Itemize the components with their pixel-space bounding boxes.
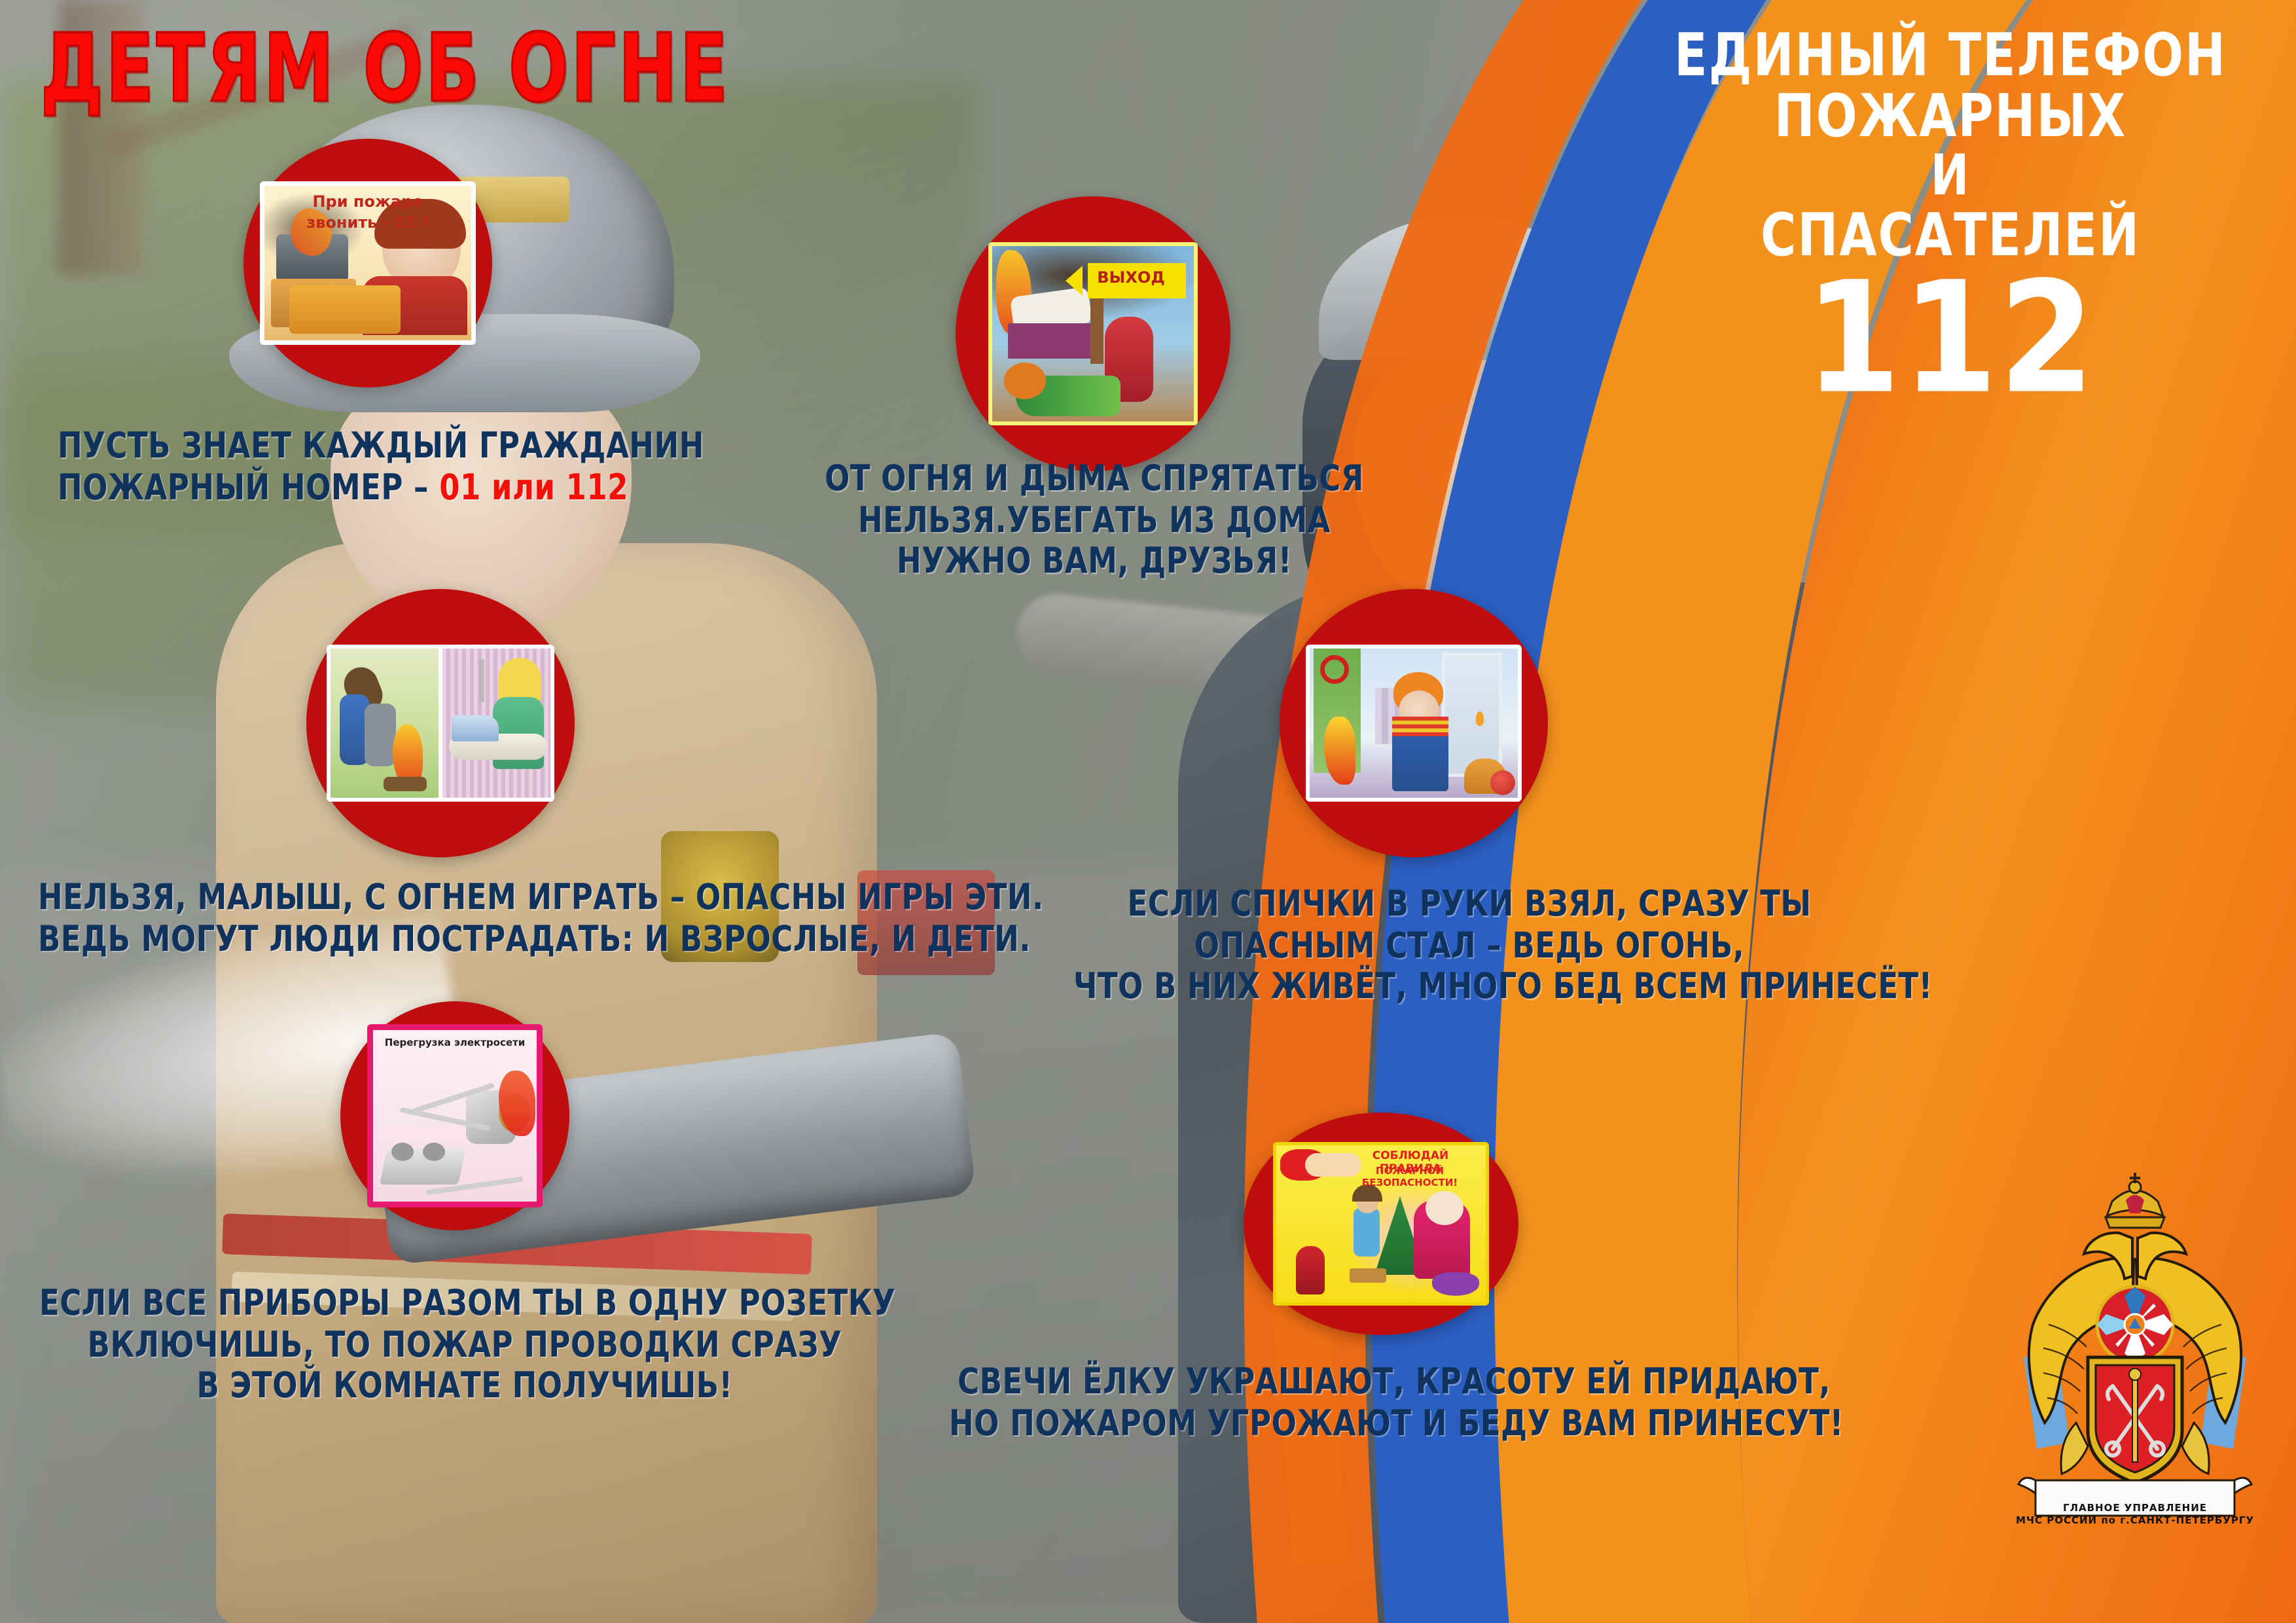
emblem-banner-line-1: ГЛАВНОЕ УПРАВЛЕНИЕ xyxy=(2004,1502,2266,1514)
illustration-overload: Перегрузка электросети xyxy=(367,1024,543,1207)
verse-matches-line-1: ЕСЛИ СПИЧКИ В РУКИ ВЗЯЛ, СРАЗУ ТЫ xyxy=(1073,883,1865,925)
illustration-circle-overload: Перегрузка электросети xyxy=(340,1001,569,1230)
illustration-new-year-art: СОБЛЮДАЙ ПРАВИЛА ПОЖАРНОЙ БЕЗОПАСНОСТИ! xyxy=(1276,1145,1486,1302)
illustration-call-01-caption-1: При пожаре xyxy=(264,192,471,211)
verse-phone-number-line-2: ПОЖАРНЫЙ НОМЕР – 01 или 112 xyxy=(58,467,704,508)
verse-candles-line-2: НО ПОЖАРОМ УГРОЖАЮТ И БЕДУ ВАМ ПРИНЕСУТ! xyxy=(949,1402,1839,1444)
illustration-circle-call-01: При пожаре звонить - 01 ! xyxy=(243,139,492,387)
verse-phone-number: ПУСТЬ ЗНАЕТ КАЖДЫЙ ГРАЖДАНИН ПОЖАРНЫЙ НО… xyxy=(58,425,704,508)
emergency-number: 112 xyxy=(1656,266,2245,410)
illustration-boy-matches xyxy=(1306,645,1522,802)
header-line-2: ПОЖАРНЫХ xyxy=(1656,86,2245,147)
illustration-exit-art: ВЫХОД xyxy=(992,246,1194,421)
verse-dont-play-line-2: ВЕДЬ МОГУТ ЛЮДИ ПОСТРАДАТЬ: И ВЗРОСЛЫЕ, … xyxy=(38,918,1044,959)
emblem-banner-text: ГЛАВНОЕ УПРАВЛЕНИЕ МЧС РОССИИ по г.САНКТ… xyxy=(2004,1502,2266,1526)
illustration-circle-exit: ВЫХОД xyxy=(956,196,1230,471)
illustration-call-01-art: При пожаре звонить - 01 ! xyxy=(264,186,471,340)
verse-socket-line-3: В ЭТОЙ КОМНАТЕ ПОЛУЧИШЬ! xyxy=(39,1365,890,1406)
header-line-3: И xyxy=(1656,147,2245,205)
verse-socket-line-2: ВКЛЮЧИШЬ, ТО ПОЖАР ПРОВОДКИ СРАЗУ xyxy=(39,1324,890,1365)
emblem-banner-line-2: МЧС РОССИИ по г.САНКТ-ПЕТЕРБУРГУ xyxy=(2004,1514,2266,1526)
illustration-call-01-caption-2: звонить - 01 ! xyxy=(264,213,471,232)
illustration-new-year: СОБЛЮДАЙ ПРАВИЛА ПОЖАРНОЙ БЕЗОПАСНОСТИ! xyxy=(1273,1142,1489,1306)
illustration-overload-caption: Перегрузка электросети xyxy=(373,1037,537,1048)
verse-dont-play-with-fire: НЕЛЬЗЯ, МАЛЫШ, С ОГНЕМ ИГРАТЬ – ОПАСНЫ И… xyxy=(38,877,1044,959)
illustration-exit-caption: ВЫХОД xyxy=(1085,268,1177,287)
verse-matches: ЕСЛИ СПИЧКИ В РУКИ ВЗЯЛ, СРАЗУ ТЫ ОПАСНЫ… xyxy=(1073,883,1865,1008)
illustration-circle-boy-matches xyxy=(1280,589,1548,857)
illustration-bonfire-iron xyxy=(327,645,554,802)
illustration-circle-new-year: СОБЛЮДАЙ ПРАВИЛА ПОЖАРНОЙ БЕЗОПАСНОСТИ! xyxy=(1244,1113,1518,1335)
fire-safety-poster: ДЕТЯМ ОБ ОГНЕ ЕДИНЫЙ ТЕЛЕФОН ПОЖАРНЫХ И … xyxy=(0,0,2296,1623)
illustration-bonfire-panel xyxy=(331,649,439,798)
illustration-iron-panel xyxy=(442,649,550,798)
emergency-phone-header: ЕДИНЫЙ ТЕЛЕФОН ПОЖАРНЫХ И СПАСАТЕЛЕЙ 112 xyxy=(1656,25,2245,402)
highlight-emergency-numbers: 01 или 112 xyxy=(439,466,628,508)
illustration-call-01: При пожаре звонить - 01 ! xyxy=(260,181,476,345)
illustration-exit: ВЫХОД xyxy=(988,242,1198,425)
verse-matches-line-2: ОПАСНЫМ СТАЛ – ВЕДЬ ОГОНЬ, xyxy=(1073,925,1865,966)
verse-escape-home-line-2: НЕЛЬЗЯ.УБЕГАТЬ ИЗ ДОМА xyxy=(825,499,1364,541)
illustration-overload-art: Перегрузка электросети xyxy=(373,1030,537,1202)
illustration-circle-bonfire-iron xyxy=(306,589,575,857)
page-title: ДЕТЯМ ОБ ОГНЕ xyxy=(41,14,730,123)
mchs-eagle-emblem-graphic xyxy=(1998,1161,2272,1527)
verse-candles-tree: СВЕЧИ ЁЛКУ УКРАШАЮТ, КРАСОТУ ЕЙ ПРИДАЮТ,… xyxy=(949,1361,1839,1444)
illustration-new-year-caption-2: ПОЖАРНОЙ БЕЗОПАСНОСТИ! xyxy=(1338,1165,1482,1188)
verse-phone-number-line-1: ПУСТЬ ЗНАЕТ КАЖДЫЙ ГРАЖДАНИН xyxy=(58,425,704,467)
verse-candles-line-1: СВЕЧИ ЁЛКУ УКРАШАЮТ, КРАСОТУ ЕЙ ПРИДАЮТ, xyxy=(949,1361,1839,1402)
verse-matches-line-3: ЧТО В НИХ ЖИВЁТ, МНОГО БЕД ВСЕМ ПРИНЕСЁТ… xyxy=(1073,966,1865,1007)
verse-socket-line-1: ЕСЛИ ВСЕ ПРИБОРЫ РАЗОМ ТЫ В ОДНУ РОЗЕТКУ xyxy=(39,1283,890,1324)
verse-escape-home: ОТ ОГНЯ И ДЫМА СПРЯТАТЬСЯ НЕЛЬЗЯ.УБЕГАТЬ… xyxy=(825,458,1364,582)
illustration-boy-matches-art xyxy=(1310,649,1518,798)
verse-dont-play-line-1: НЕЛЬЗЯ, МАЛЫШ, С ОГНЕМ ИГРАТЬ – ОПАСНЫ И… xyxy=(38,877,1044,918)
verse-socket-overload: ЕСЛИ ВСЕ ПРИБОРЫ РАЗОМ ТЫ В ОДНУ РОЗЕТКУ… xyxy=(39,1283,890,1407)
verse-escape-home-line-3: НУЖНО ВАМ, ДРУЗЬЯ! xyxy=(825,541,1364,582)
mchs-emblem: ГЛАВНОЕ УПРАВЛЕНИЕ МЧС РОССИИ по г.САНКТ… xyxy=(1998,1161,2272,1527)
header-line-1: ЕДИНЫЙ ТЕЛЕФОН xyxy=(1656,25,2245,86)
verse-escape-home-line-1: ОТ ОГНЯ И ДЫМА СПРЯТАТЬСЯ xyxy=(825,458,1364,499)
